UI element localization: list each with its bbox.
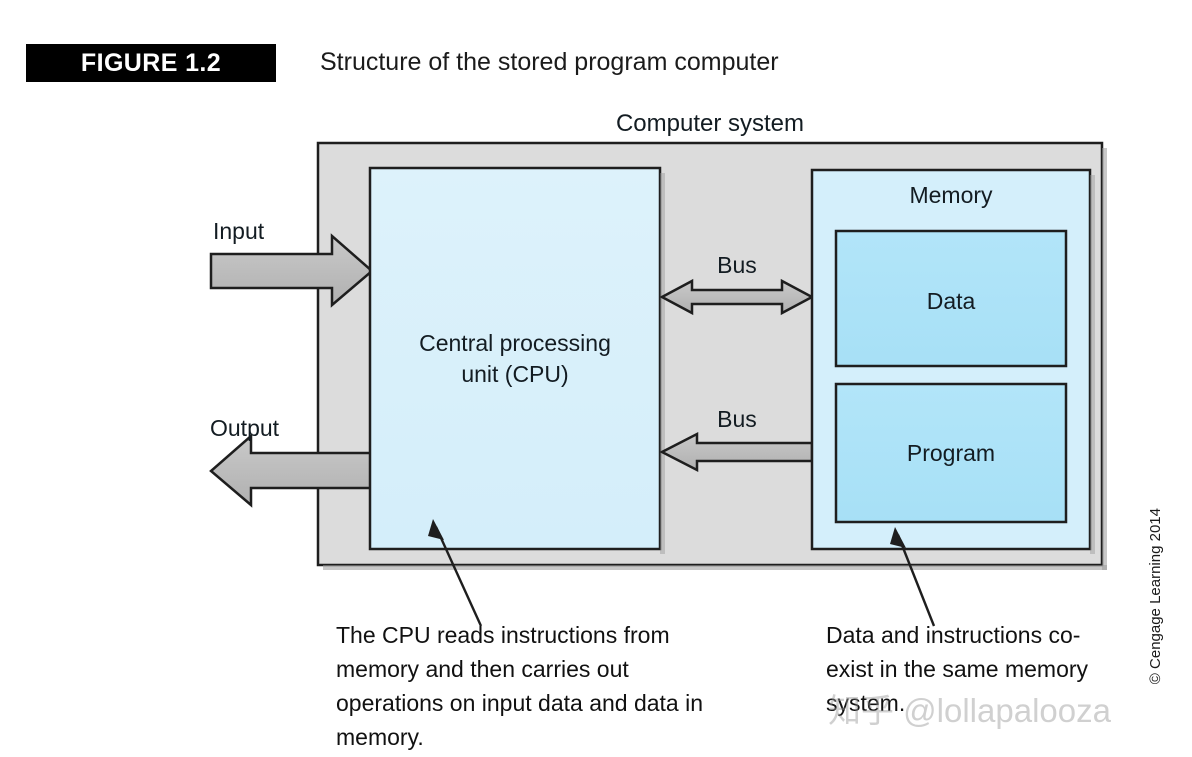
- program-label: Program: [836, 440, 1066, 467]
- computer-system-label: Computer system: [318, 110, 1102, 138]
- cpu-label-line1: Central processing: [372, 328, 658, 359]
- copyright-notice: © Cengage Learning 2014: [1147, 508, 1164, 684]
- input-label: Input: [213, 218, 264, 245]
- computer-system-box-shadow: [1102, 148, 1107, 570]
- cpu-label-line2: unit (CPU): [372, 359, 658, 390]
- computer-system-box-shadow-bottom: [323, 565, 1107, 570]
- cpu-label: Central processing unit (CPU): [372, 328, 658, 390]
- bus-bottom-label: Bus: [662, 406, 812, 433]
- cpu-caption: The CPU reads instructions from memory a…: [336, 618, 706, 754]
- memory-label: Memory: [815, 182, 1087, 209]
- bus-top-label: Bus: [662, 252, 812, 279]
- data-label: Data: [836, 288, 1066, 315]
- output-label: Output: [210, 415, 279, 442]
- memory-box-shadow: [1090, 175, 1095, 554]
- cpu-box-shadow: [660, 173, 665, 554]
- memory-caption: Data and instructions co-exist in the sa…: [826, 618, 1116, 720]
